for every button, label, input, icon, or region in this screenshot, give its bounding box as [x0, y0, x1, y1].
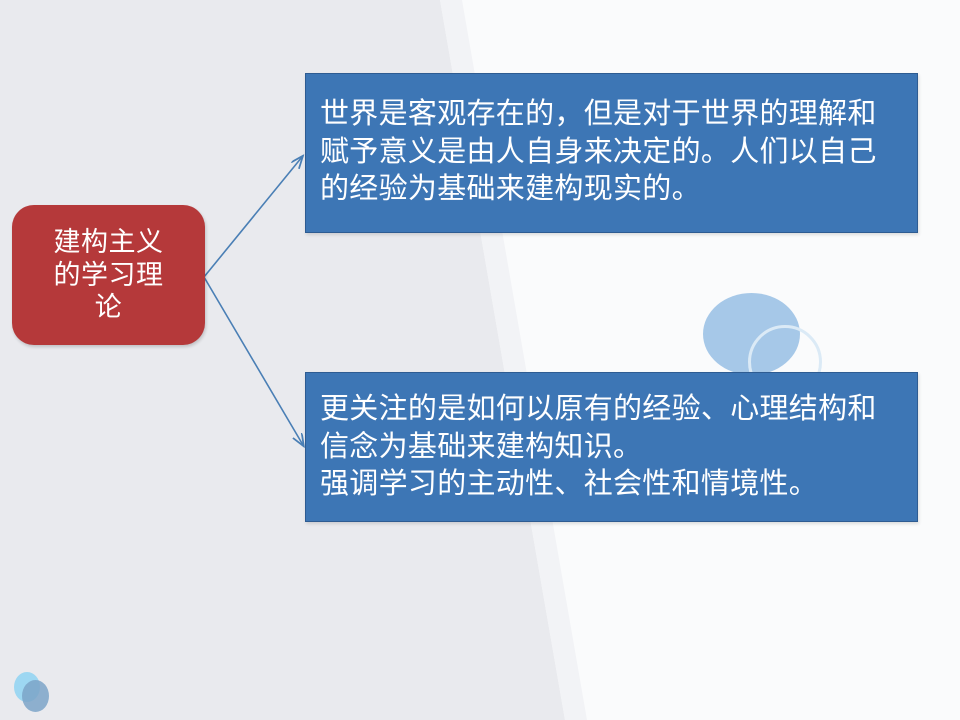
slide-canvas: 建构主义 的学习理 论 世界是客观存在的，但是对于世界的理解和赋予意义是由人自身…: [0, 0, 960, 720]
source-node-label: 建构主义 的学习理 论: [44, 226, 174, 325]
branch-node-bottom[interactable]: 更关注的是如何以原有的经验、心理结构和信念为基础来建构知识。 强调学习的主动性、…: [305, 372, 918, 522]
decorative-dot-dark-icon: [22, 680, 49, 712]
branch-node-top[interactable]: 世界是客观存在的，但是对于世界的理解和赋予意义是由人自身来决定的。人们以自己的经…: [305, 73, 918, 233]
branch-node-bottom-text: 更关注的是如何以原有的经验、心理结构和信念为基础来建构知识。 强调学习的主动性、…: [320, 391, 901, 504]
branch-node-top-text: 世界是客观存在的，但是对于世界的理解和赋予意义是由人自身来决定的。人们以自己的经…: [320, 96, 901, 209]
source-node-constructivism[interactable]: 建构主义 的学习理 论: [12, 205, 205, 345]
